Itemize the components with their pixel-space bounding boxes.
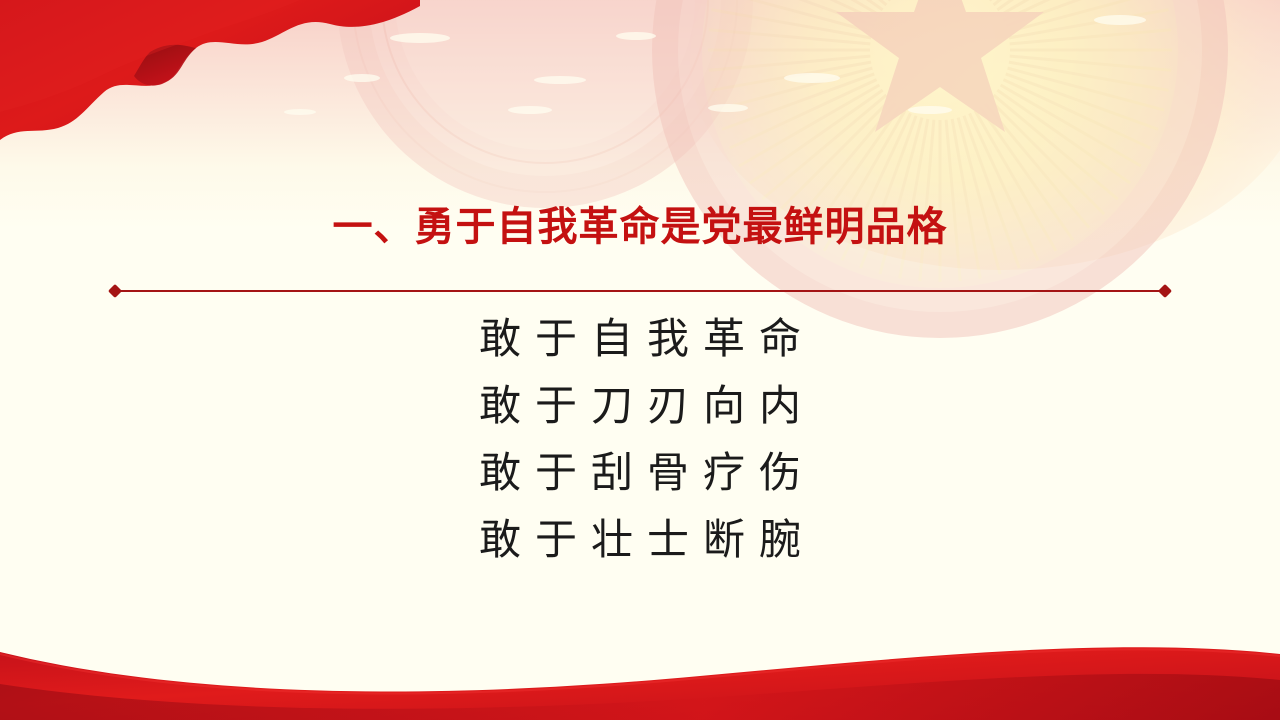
body-line-3: 敢于刮骨疗伤 — [0, 439, 1280, 506]
page-title: 一、勇于自我革命是党最鲜明品格 — [0, 204, 1280, 250]
bottom-wave-decoration — [0, 610, 1280, 720]
top-left-flag-decoration — [0, 0, 420, 200]
divider-right-diamond-icon — [1158, 284, 1172, 298]
page-title-text: 一、勇于自我革命是党最鲜明品格 — [333, 204, 948, 250]
body-line-1: 敢于自我革命 — [0, 305, 1280, 372]
body-line-4: 敢于壮士断腕 — [0, 506, 1280, 573]
divider — [110, 285, 1170, 297]
body-line-2: 敢于刀刃向内 — [0, 372, 1280, 439]
divider-rule — [116, 290, 1164, 292]
slide-canvas: 一、勇于自我革命是党最鲜明品格 敢于自我革命 敢于刀刃向内 敢于刮骨疗伤 敢于壮… — [0, 0, 1280, 720]
body-text-block: 敢于自我革命 敢于刀刃向内 敢于刮骨疗伤 敢于壮士断腕 — [0, 305, 1280, 573]
